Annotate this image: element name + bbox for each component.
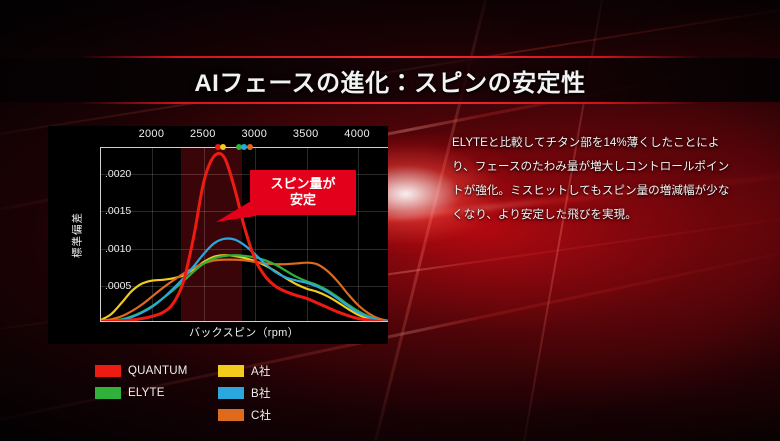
legend-column-left: QUANTUMELYTE (95, 361, 188, 405)
legend-label: A社 (251, 363, 271, 379)
legend-column-right: A社B社C社 (218, 361, 271, 427)
legend-label: QUANTUM (128, 365, 188, 377)
mean-marker-B社 (241, 144, 247, 150)
legend-swatch-ELYTE (95, 387, 121, 399)
x-tick-2500: 2500 (190, 128, 216, 140)
y-tick-2: .0015 (105, 205, 131, 217)
x-axis-tick-labels: 20002500300035004000 (48, 128, 388, 144)
legend-item-C社: C社 (218, 405, 271, 425)
chart-legend: QUANTUMELYTE A社B社C社 (95, 361, 325, 423)
slide-root: AIフェースの進化：スピンの安定性 20002500300035004000 .… (0, 0, 780, 441)
x-tick-2000: 2000 (139, 128, 165, 140)
x-axis-line (100, 321, 388, 322)
legend-item-A社: A社 (218, 361, 271, 381)
y-tick-0: .0005 (105, 280, 131, 292)
legend-item-QUANTUM: QUANTUM (95, 361, 188, 381)
callout-line-2: 安定 (259, 192, 347, 208)
callout-box: スピン量が 安定 (250, 170, 356, 215)
callout-tail (216, 198, 256, 228)
legend-label: B社 (251, 385, 271, 401)
curve-B社 (101, 239, 388, 322)
y-tick-1: .0010 (105, 243, 131, 255)
legend-swatch-QUANTUM (95, 365, 121, 377)
legend-label: ELYTE (128, 387, 165, 399)
legend-item-ELYTE: ELYTE (95, 383, 188, 403)
body-copy: ELYTEと比較してチタン部を14%薄くしたことにより、フェースのたわみ量が増大… (452, 131, 738, 227)
mean-marker-A社 (220, 144, 226, 150)
title-band: AIフェースの進化：スピンの安定性 (0, 56, 780, 104)
x-tick-3500: 3500 (293, 128, 319, 140)
legend-item-B社: B社 (218, 383, 271, 403)
mean-marker-C社 (247, 144, 253, 150)
legend-swatch-C社 (218, 409, 244, 421)
x-tick-3000: 3000 (241, 128, 267, 140)
callout-line-1: スピン量が (270, 176, 335, 191)
y-axis-title: 標準偏差 (70, 212, 85, 258)
x-tick-4000: 4000 (344, 128, 370, 140)
legend-label: C社 (251, 407, 271, 423)
x-axis-title: バックスピン（rpm） (100, 324, 388, 340)
page-title: AIフェースの進化：スピンの安定性 (0, 56, 780, 104)
chart-panel: 20002500300035004000 .0005.0010.0015.002… (48, 126, 388, 344)
legend-swatch-A社 (218, 365, 244, 377)
y-tick-3: .0020 (105, 168, 131, 180)
legend-swatch-B社 (218, 387, 244, 399)
